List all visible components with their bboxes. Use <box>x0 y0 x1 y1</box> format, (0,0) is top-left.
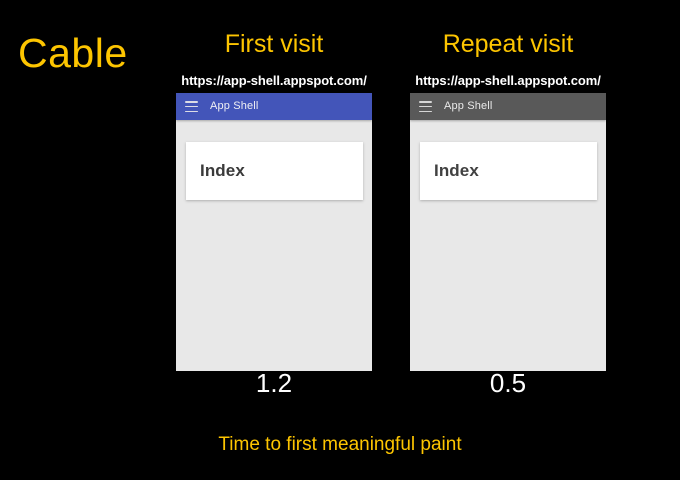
phone-viewport-repeat-visit: App Shell Index <box>410 93 606 371</box>
column-repeat-visit: Repeat visit https://app-shell.appspot.c… <box>389 0 627 480</box>
metric-first-visit: 1.2 <box>155 367 393 399</box>
app-bar-title-first-visit: App Shell <box>210 100 258 113</box>
url-label-repeat-visit: https://app-shell.appspot.com/ <box>389 72 627 89</box>
column-heading-repeat-visit: Repeat visit <box>389 29 627 59</box>
column-first-visit: First visit https://app-shell.appspot.co… <box>155 0 393 480</box>
metric-repeat-visit: 0.5 <box>389 367 627 399</box>
card-title-first-visit: Index <box>200 161 245 181</box>
content-card-first-visit: Index <box>186 142 363 200</box>
app-bar-repeat-visit: App Shell <box>410 93 606 120</box>
content-card-repeat-visit: Index <box>420 142 597 200</box>
slide-caption: Time to first meaningful paint <box>0 433 680 457</box>
url-label-first-visit: https://app-shell.appspot.com/ <box>155 72 393 89</box>
hamburger-icon[interactable] <box>419 101 432 112</box>
slide-canvas: Cable First visit https://app-shell.apps… <box>0 0 680 480</box>
column-heading-first-visit: First visit <box>155 29 393 59</box>
app-bar-first-visit: App Shell <box>176 93 372 120</box>
app-bar-title-repeat-visit: App Shell <box>444 100 492 113</box>
slide-title: Cable <box>18 27 128 79</box>
phone-viewport-first-visit: App Shell Index <box>176 93 372 371</box>
hamburger-icon[interactable] <box>185 101 198 112</box>
card-title-repeat-visit: Index <box>434 161 479 181</box>
